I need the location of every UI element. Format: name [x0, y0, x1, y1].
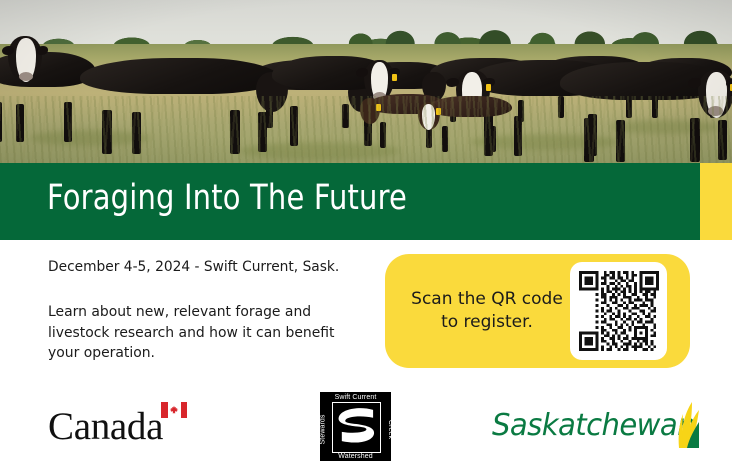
maple-leaf-icon: [169, 404, 179, 416]
cow-body: [80, 58, 280, 94]
cow-ear-tag: [486, 84, 491, 91]
saskatchewan-logo: Saskatchewan: [492, 400, 700, 450]
watershed-label-top: Swift Current: [320, 394, 391, 401]
banner-yellow-accent: [700, 163, 732, 240]
qr-code-icon: [579, 271, 659, 351]
canada-wordmark-text: Canada: [48, 404, 163, 449]
saskatchewan-wordmark-text: Saskatchewan: [492, 408, 695, 443]
watershed-label-bottom: Watershed: [320, 453, 391, 460]
grass-texture: [0, 96, 732, 164]
cow-muzzle: [19, 72, 33, 81]
page-title: Foraging Into The Future: [47, 178, 407, 218]
flag-bar-left: [161, 402, 168, 418]
swift-current-creek-watershed-logo: Swift Current Stewards Creek Watershed: [320, 392, 391, 461]
watershed-label-left: Stewards: [319, 415, 326, 445]
watershed-label-right: Creek: [387, 420, 394, 439]
qr-code-container[interactable]: [570, 262, 667, 360]
watershed-s-monogram-icon: [334, 404, 377, 449]
qr-registration-card[interactable]: Scan the QR code to register.: [385, 254, 690, 368]
saskatchewan-sheaf-icon: [670, 402, 700, 450]
pasture-cattle-photo: [0, 0, 732, 164]
canada-flag-icon: [161, 402, 187, 418]
treeline-near: [337, 14, 732, 44]
qr-call-to-action: Scan the QR code to register.: [407, 288, 567, 334]
event-date-location: December 4-5, 2024 - Swift Current, Sask…: [48, 259, 339, 275]
canada-wordmark-logo: Canada: [48, 400, 198, 446]
event-description: Learn about new, relevant forage and liv…: [48, 302, 365, 364]
flag-bar-right: [181, 402, 188, 418]
poster-canvas: Foraging Into The Future December 4-5, 2…: [0, 0, 732, 468]
cow-ear-tag: [392, 74, 397, 81]
